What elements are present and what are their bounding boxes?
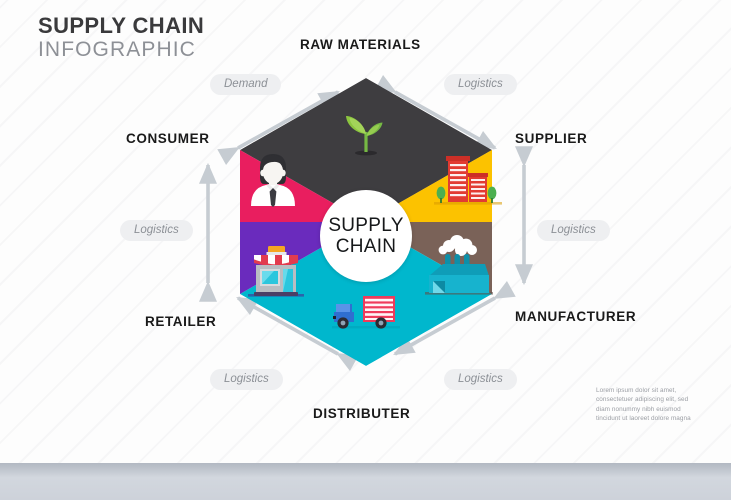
lorem-line-1: Lorem ipsum dolor sit amet, [596,386,728,395]
footer-lorem-text: Lorem ipsum dolor sit amet, consectetuer… [596,386,728,424]
node-label-consumer: CONSUMER [126,131,210,146]
connector-pill-logistics-top-right: Logistics [444,74,517,95]
center-label-line2: CHAIN [336,236,397,257]
center-supply-chain-badge: SUPPLY CHAIN [320,190,412,282]
node-label-retailer: RETAILER [145,314,216,329]
lorem-line-3: diam nonummy nibh euismod [596,405,728,414]
node-label-manufacturer: MANUFACTURER [515,309,636,324]
node-label-distributer: DISTRIBUTER [313,406,410,421]
connector-pill-demand: Demand [210,74,281,95]
lorem-line-4: tincidunt ut laoreet dolore magna [596,414,728,423]
connector-pill-logistics-bottom-left: Logistics [210,369,283,390]
infographic-canvas: SUPPLY CHAIN INFOGRAPHIC [0,0,731,500]
connector-pill-logistics-bottom-right: Logistics [444,369,517,390]
connector-pill-logistics-right: Logistics [537,220,610,241]
node-label-raw-materials: RAW MATERIALS [300,37,421,52]
lorem-line-2: consectetuer adipiscing elit, sed [596,395,728,404]
connector-pill-logistics-left: Logistics [120,220,193,241]
node-label-supplier: SUPPLIER [515,131,587,146]
center-label-line1: SUPPLY [328,215,403,236]
bottom-shelf-band [0,463,731,500]
